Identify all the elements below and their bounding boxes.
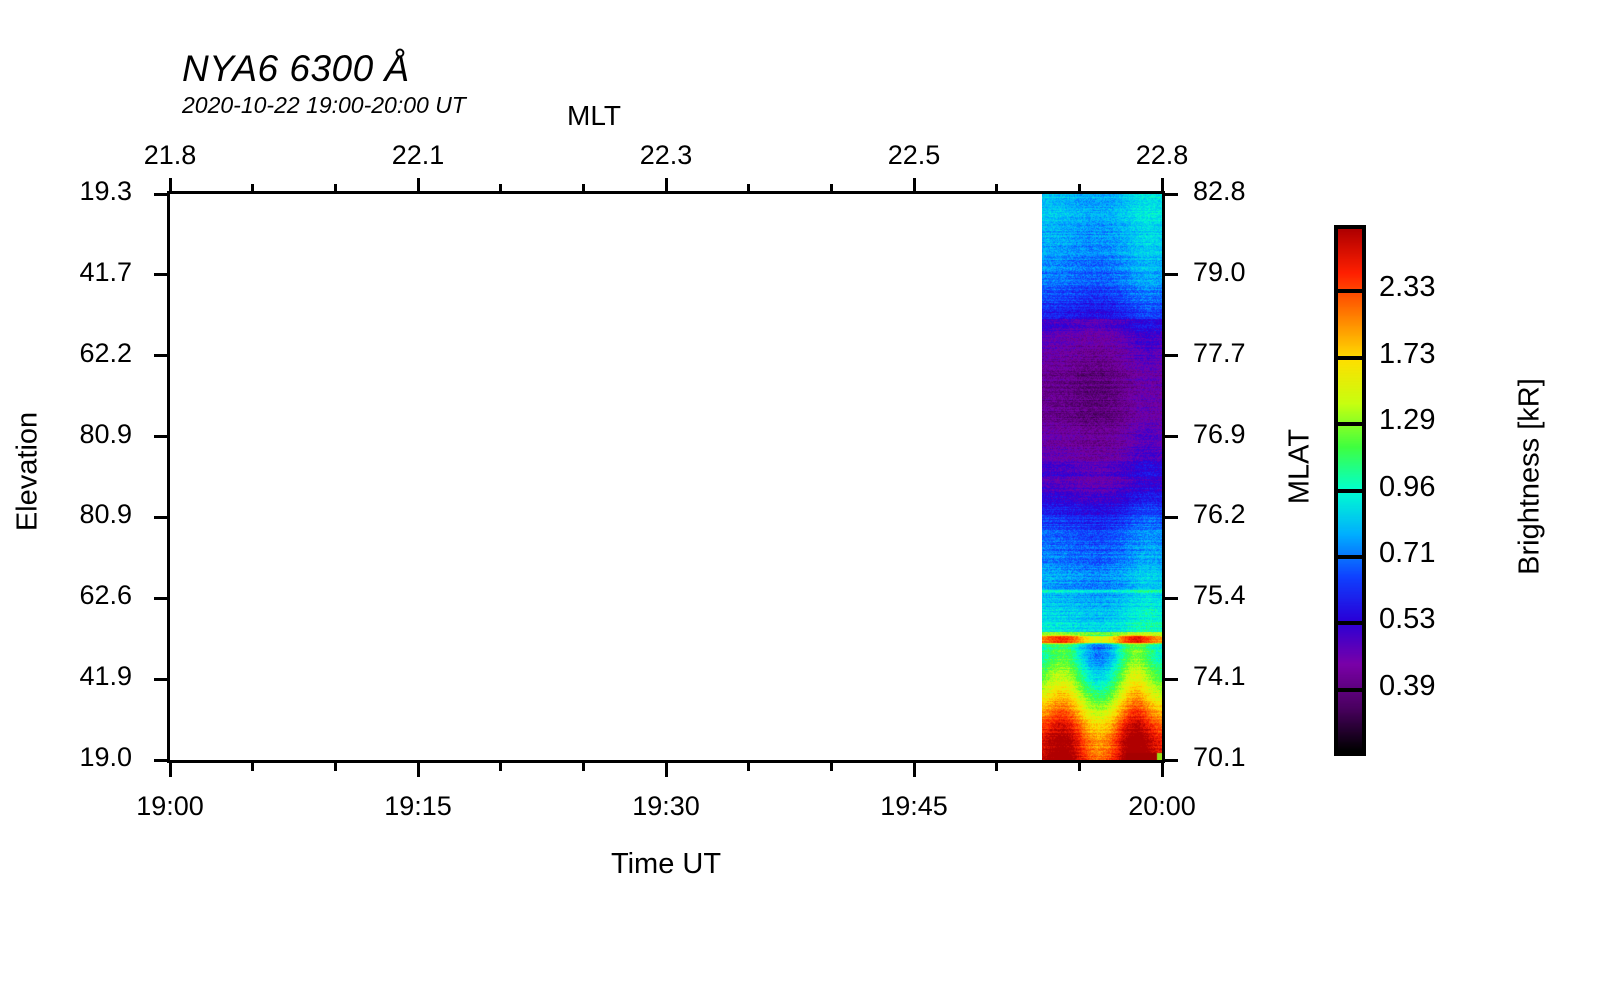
mlat-tick — [1162, 354, 1178, 357]
time-minor-tick — [1078, 761, 1081, 771]
elevation-tick-label: 19.0 — [0, 742, 132, 773]
mlat-tick — [1162, 516, 1178, 519]
mlat-tick — [1162, 678, 1178, 681]
mlat-tick-label: 79.0 — [1193, 257, 1323, 288]
elevation-tick — [154, 354, 170, 357]
elevation-tick-label: 62.6 — [0, 580, 132, 611]
colorbar-divider — [1334, 555, 1366, 559]
time-tick-label: 20:00 — [1102, 791, 1222, 822]
mlat-tick-label: 77.7 — [1193, 338, 1323, 369]
auroral-keogram-raster — [1042, 194, 1162, 760]
time-tick-label: 19:00 — [110, 791, 230, 822]
colorbar-divider — [1334, 356, 1366, 360]
mlt-axis-title: MLT — [567, 100, 621, 132]
elevation-tick — [154, 435, 170, 438]
elevation-axis-title: Elevation — [12, 382, 45, 562]
time-major-tick — [169, 761, 172, 777]
elevation-tick — [154, 516, 170, 519]
mlat-tick-label: 74.1 — [1193, 661, 1323, 692]
mlat-tick — [1162, 193, 1178, 196]
colorbar-tick-label: 2.33 — [1379, 271, 1435, 304]
colorbar-title: Brightness [kR] — [1514, 327, 1547, 627]
time-minor-tick — [830, 761, 833, 771]
colorbar-tick-label: 0.96 — [1379, 471, 1435, 504]
elevation-tick — [154, 597, 170, 600]
time-major-tick — [1161, 761, 1164, 777]
elevation-tick — [154, 273, 170, 276]
time-minor-tick — [582, 761, 585, 771]
elevation-tick — [154, 193, 170, 196]
time-minor-tick — [747, 761, 750, 771]
mlt-tick-label: 21.8 — [110, 140, 230, 171]
mlat-tick — [1162, 273, 1178, 276]
colorbar-divider — [1334, 422, 1366, 426]
mlat-tick — [1162, 759, 1178, 762]
mlat-tick-label: 70.1 — [1193, 742, 1323, 773]
time-minor-tick — [334, 761, 337, 771]
mlat-tick — [1162, 435, 1178, 438]
time-tick-label: 19:45 — [854, 791, 974, 822]
time-axis-title: Time UT — [0, 848, 1332, 881]
colorbar-tick-label: 0.39 — [1379, 670, 1435, 703]
elevation-tick-label: 19.3 — [0, 176, 132, 207]
page-title: NYA6 6300 Å — [182, 48, 410, 90]
colorbar-divider — [1334, 289, 1366, 293]
elevation-tick-label: 41.9 — [0, 661, 132, 692]
time-major-tick — [417, 761, 420, 777]
elevation-tick-label: 41.7 — [0, 257, 132, 288]
mlat-tick — [1162, 597, 1178, 600]
heatmap-plot-area — [167, 191, 1165, 763]
mlat-tick-label: 75.4 — [1193, 580, 1323, 611]
time-major-tick — [913, 761, 916, 777]
colorbar-tick-label: 1.73 — [1379, 338, 1435, 371]
mlt-tick-label: 22.8 — [1102, 140, 1222, 171]
colorbar-tick-label: 1.29 — [1379, 404, 1435, 437]
time-minor-tick — [251, 761, 254, 771]
page-subtitle: 2020-10-22 19:00-20:00 UT — [182, 92, 466, 119]
elevation-tick — [154, 759, 170, 762]
time-tick-label: 19:15 — [358, 791, 478, 822]
mlat-axis-title: MLAT — [1284, 377, 1317, 557]
time-minor-tick — [499, 761, 502, 771]
colorbar-divider — [1334, 688, 1366, 692]
mlt-tick-label: 22.3 — [606, 140, 726, 171]
mlat-tick-label: 82.8 — [1193, 176, 1323, 207]
time-major-tick — [665, 761, 668, 777]
colorbar-divider — [1334, 621, 1366, 625]
time-minor-tick — [995, 761, 998, 771]
colorbar-tick-label: 0.71 — [1379, 537, 1435, 570]
time-tick-label: 19:30 — [606, 791, 726, 822]
elevation-tick — [154, 678, 170, 681]
colorbar-tick-label: 0.53 — [1379, 603, 1435, 636]
elevation-tick-label: 62.2 — [0, 338, 132, 369]
colorbar-divider — [1334, 489, 1366, 493]
mlt-tick-label: 22.1 — [358, 140, 478, 171]
mlt-tick-label: 22.5 — [854, 140, 974, 171]
